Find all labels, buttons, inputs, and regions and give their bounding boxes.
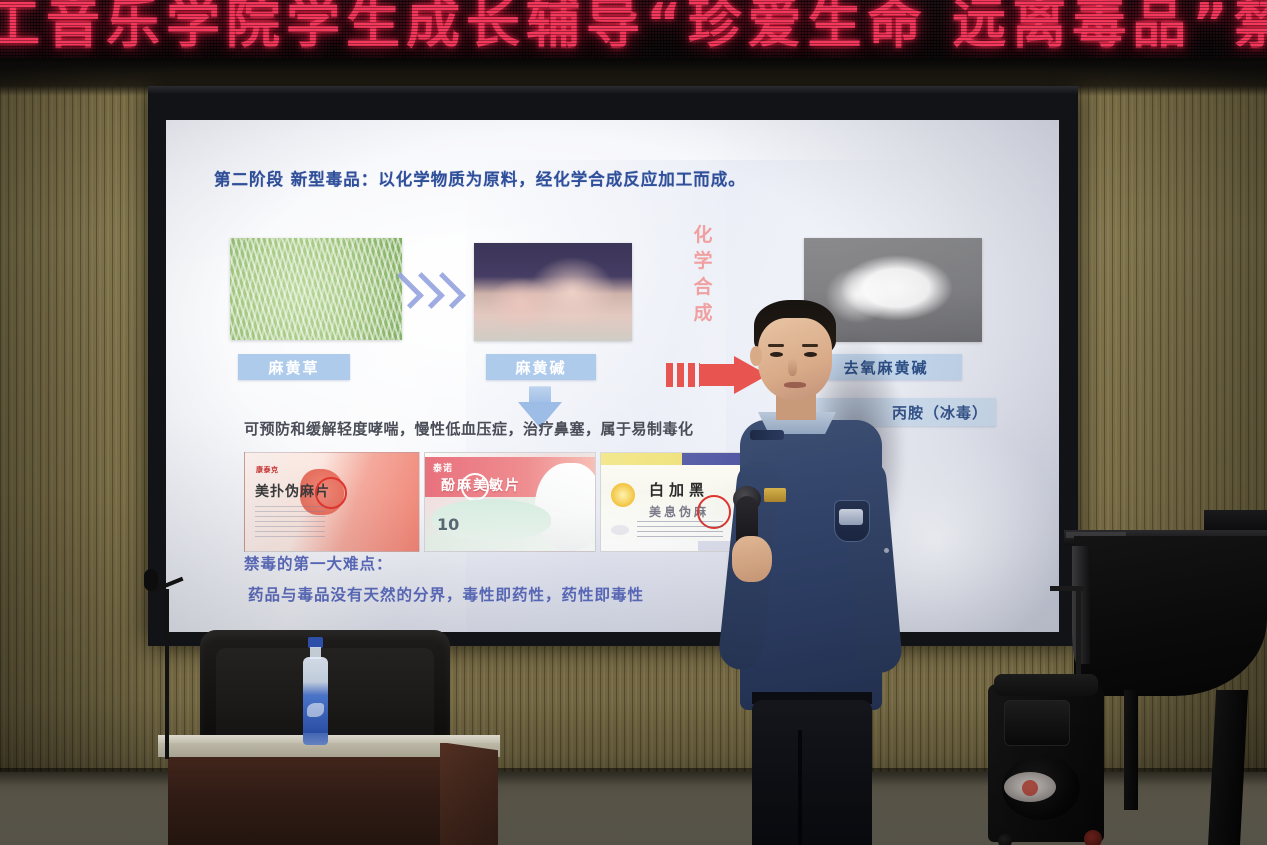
piano-leg xyxy=(1208,690,1248,845)
led-banner: 工音乐学院学生成长辅导“珍爱生命 远离毒品”禁 xyxy=(0,0,1267,62)
presenter-police-officer xyxy=(726,300,896,845)
floor-microphone-stand[interactable] xyxy=(152,565,182,760)
piano-body xyxy=(1074,536,1267,696)
medicine-box-kangtaike: 康泰克 美扑伪麻片 xyxy=(244,452,420,552)
box-fine-print xyxy=(637,519,723,537)
presenter-eyebrow-left xyxy=(768,344,784,347)
label-chip-ephedra-grass: 麻黄草 xyxy=(238,354,350,380)
presenter-mouth xyxy=(784,382,806,388)
water-bottle[interactable] xyxy=(300,637,330,745)
trouser-split xyxy=(798,730,802,845)
slide-footer-line-2: 药品与毒品没有天然的分界，毒性即药性，药性即毒性 xyxy=(248,583,644,605)
pill-icon xyxy=(611,525,629,535)
chemical-synthesis-vertical-text: 化 学 合 成 xyxy=(690,222,716,326)
piano-side-panel xyxy=(1072,546,1090,664)
medicine-brand-3: 白加黑 xyxy=(649,479,709,500)
slide-description-text: 可预防和缓解轻度哮喘，慢性低血压症，治疗鼻塞，属于易制毒化 xyxy=(244,418,694,439)
medicine-brand-1: 康泰克 xyxy=(256,465,279,475)
vtext-ch4: 成 xyxy=(690,300,716,326)
presenter-ear xyxy=(750,346,762,366)
screen-roller xyxy=(148,86,1078,95)
medicine-brand-2: 泰诺 xyxy=(433,461,453,474)
podium-side-panel xyxy=(440,742,498,845)
presenter-eye-left xyxy=(770,352,783,357)
highlight-circle-icon xyxy=(461,473,489,501)
piano-leg xyxy=(1124,690,1138,810)
sun-icon xyxy=(611,483,635,507)
speaker-sticker-red-mark xyxy=(1022,780,1038,796)
sleeve-patch xyxy=(834,500,870,542)
portable-pa-speaker[interactable] xyxy=(988,684,1104,842)
ephedra-grass-photo xyxy=(230,238,402,340)
box-art-face xyxy=(535,463,596,551)
box-fine-print xyxy=(255,503,325,537)
screenshot-root: 工音乐学院学生成长辅导“珍爱生命 远离毒品”禁 第二阶段 新型毒品：以化学物质为… xyxy=(0,0,1267,845)
vtext-ch3: 合 xyxy=(690,274,716,300)
bottle-logo-icon xyxy=(307,703,324,717)
chest-badge xyxy=(764,488,786,502)
ephedrine-bags-photo xyxy=(474,243,632,341)
presenter-eye-right xyxy=(804,352,817,357)
speaker-wheel-red xyxy=(1084,830,1102,845)
presenter-trousers xyxy=(752,700,872,845)
mic-pole xyxy=(165,589,169,759)
sleeve-patch-emblem xyxy=(839,509,863,525)
label-chip-ephedrine: 麻黄碱 xyxy=(486,354,596,380)
shoulder-board xyxy=(750,430,784,440)
dust-speck xyxy=(884,548,889,553)
medicine-box-tainuo: 泰诺 酚麻美敏片 10 xyxy=(424,452,596,552)
presenter-eyebrow-right xyxy=(802,344,818,347)
speaker-horn-tweeter xyxy=(1004,700,1070,746)
speaker-top-shell xyxy=(994,674,1098,696)
vtext-ch1: 化 xyxy=(690,222,716,248)
speaker-wheel xyxy=(998,834,1012,845)
medicine-count-2: 10 xyxy=(437,515,459,534)
mic-capsule-icon xyxy=(144,569,158,591)
triple-chevron-icon xyxy=(396,268,466,312)
vtext-ch2: 学 xyxy=(690,248,716,274)
presenter-nose xyxy=(788,358,797,376)
projected-slide: 第二阶段 新型毒品：以化学物质为原料，经化学合成反应加工而成。 化 学 合 成 … xyxy=(166,120,1059,632)
slide-title: 第二阶段 新型毒品：以化学物质为原料，经化学合成反应加工而成。 xyxy=(214,166,746,190)
presenter-hand xyxy=(732,536,772,582)
banner-drop-shadow xyxy=(0,58,1267,68)
slide-footer-line-1: 禁毒的第一大难点： xyxy=(244,552,393,574)
led-banner-text: 工音乐学院学生成长辅导“珍爱生命 远离毒品”禁 xyxy=(0,0,1267,54)
